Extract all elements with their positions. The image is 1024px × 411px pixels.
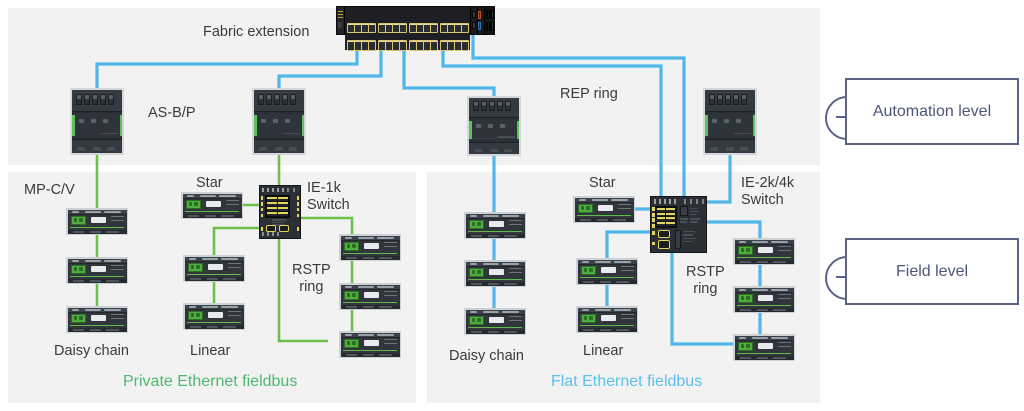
io-module-flat-ring-2[interactable] (733, 286, 795, 313)
ie2k-label-strip (654, 199, 676, 203)
io-module-private-daisy-3[interactable] (66, 306, 128, 333)
label-rep-ring: REP ring (560, 86, 618, 103)
io-module-flat-star[interactable] (573, 196, 635, 223)
ie-1k-switch[interactable] (259, 185, 301, 239)
io-module-flat-ring-3[interactable] (733, 334, 795, 361)
rack-mgmt-ports (477, 7, 485, 34)
automation-level-box[interactable]: Automation level (845, 78, 1019, 145)
as-bp-controller-2[interactable] (252, 88, 306, 155)
ie2k-led-strip (684, 199, 704, 203)
ie1k-uplink-port-a (266, 225, 276, 232)
automation-level-label: Automation level (873, 102, 991, 121)
io-module-flat-daisy-1[interactable] (464, 212, 526, 239)
io-module-flat-daisy-3[interactable] (464, 308, 526, 335)
as-bp-controller-3[interactable] (467, 96, 521, 156)
io-module-private-daisy-2[interactable] (66, 257, 128, 284)
io-module-private-ring-3[interactable] (339, 331, 401, 358)
ie1k-port-block (265, 195, 290, 218)
diagram-canvas: Fabric extension AS-B/P REP ring MP-C/V … (0, 0, 1024, 411)
field-level-box[interactable]: Field level (845, 238, 1019, 305)
ie2k-port-block (655, 206, 677, 228)
io-module-private-linear-2[interactable] (183, 303, 245, 330)
rack-fan-module (484, 7, 494, 34)
label-rstp-ring-flat: RSTP ring (686, 264, 725, 298)
label-linear-flat: Linear (583, 343, 623, 360)
rack-port-row-bottom (347, 40, 469, 50)
label-ie-1k-switch: IE-1k Switch (307, 180, 350, 214)
label-flat-ethernet-fieldbus: Flat Ethernet fieldbus (551, 373, 702, 391)
io-module-private-star[interactable] (181, 192, 243, 219)
ie-2k-4k-switch[interactable] (650, 196, 707, 253)
ie1k-bottom-strip (262, 232, 280, 236)
label-rstp-ring-private: RSTP ring (292, 262, 331, 296)
label-as-bp: AS-B/P (148, 105, 196, 122)
ie2k-fiber-port-a (658, 230, 670, 238)
rack-label-plate (338, 22, 342, 28)
rack-port-row-top (347, 23, 469, 33)
io-module-flat-daisy-2[interactable] (464, 260, 526, 287)
ie1k-uplink-port-b (279, 225, 289, 232)
rack-left-module (337, 7, 345, 34)
label-star-private: Star (196, 175, 223, 192)
ie2k-fiber-port-b (658, 240, 670, 248)
label-daisy-chain-private: Daisy chain (54, 343, 129, 360)
ie1k-status-bars (272, 219, 286, 220)
label-fabric-extension: Fabric extension (203, 24, 309, 41)
ie2k-power-module (680, 206, 688, 216)
label-private-ethernet-fieldbus: Private Ethernet fieldbus (123, 373, 297, 391)
as-bp-controller-4[interactable] (703, 88, 757, 155)
label-daisy-chain-flat: Daisy chain (449, 348, 524, 365)
io-module-private-linear-1[interactable] (183, 255, 245, 282)
label-star-flat: Star (589, 175, 616, 192)
field-level-label: Field level (896, 262, 968, 281)
ie1k-label-strip (262, 188, 286, 193)
ie1k-led-strip (287, 188, 298, 193)
rack-port-bank (345, 7, 470, 50)
io-module-flat-linear-1[interactable] (576, 258, 638, 285)
as-bp-controller-1[interactable] (70, 88, 124, 155)
core-rack-switch[interactable] (336, 6, 495, 35)
io-module-private-ring-2[interactable] (339, 283, 401, 310)
io-module-flat-ring-1[interactable] (733, 238, 795, 265)
io-module-private-ring-1[interactable] (339, 234, 401, 261)
label-linear-private: Linear (190, 343, 230, 360)
label-ie-2k-4k-switch: IE-2k/4k Switch (741, 175, 794, 209)
io-module-private-daisy-1[interactable] (66, 208, 128, 235)
ie2k-expansion-slot (675, 230, 681, 249)
label-mp-cv: MP-C/V (24, 182, 75, 199)
io-module-flat-linear-2[interactable] (576, 306, 638, 333)
rack-led-chip (338, 11, 343, 19)
